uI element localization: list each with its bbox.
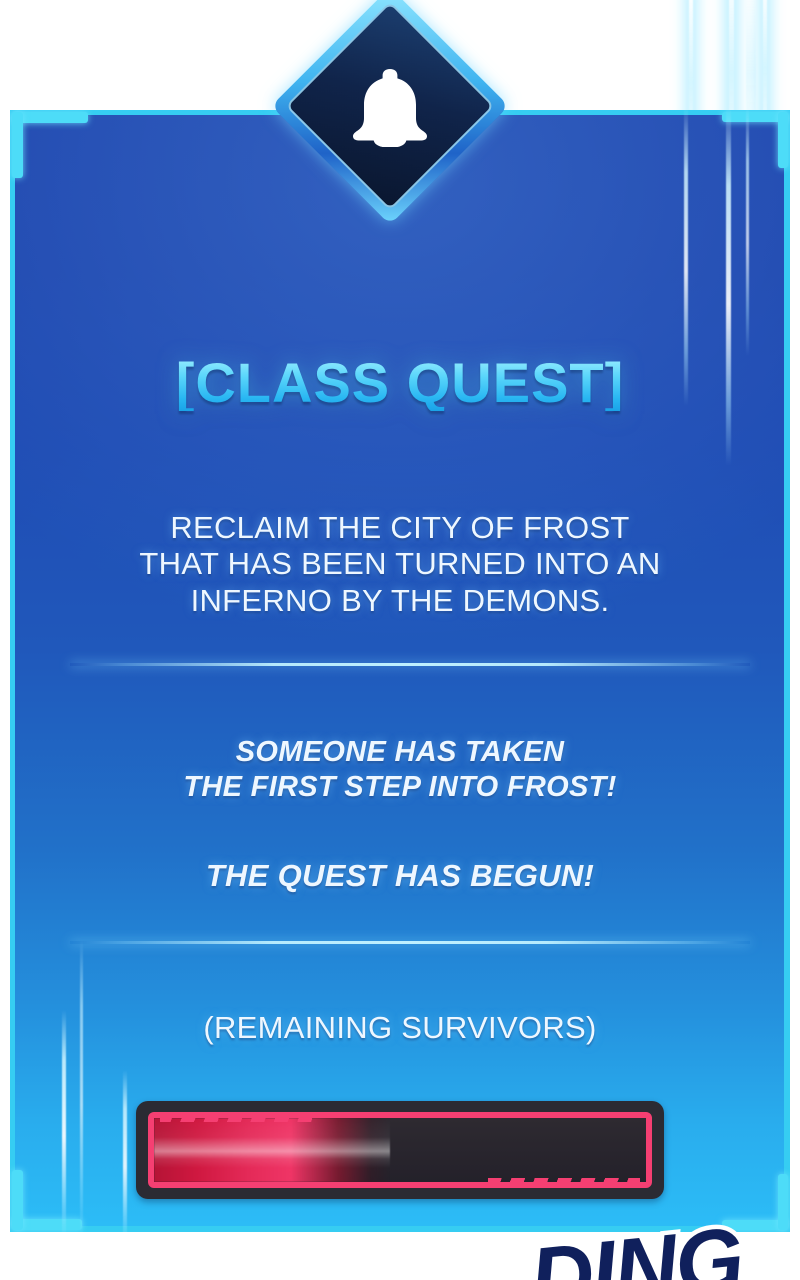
light-streak — [746, 110, 749, 356]
gauge-hatch-bottom-right — [488, 1178, 640, 1187]
quest-announcement-text: SOMEONE HAS TAKEN THE FIRST STEP INTO FR… — [10, 735, 790, 805]
light-streak — [80, 940, 83, 1232]
section-divider — [70, 663, 750, 666]
panel-border-left — [10, 110, 15, 1232]
quest-badge — [292, 8, 488, 204]
page-title: [CLASS QUEST] — [10, 355, 790, 411]
quest-begun-text: THE QUEST HAS BEGUN! — [10, 858, 790, 894]
section-divider — [70, 941, 750, 944]
light-streak — [123, 1070, 127, 1232]
gauge-label: (REMAINING SURVIVORS) — [10, 1010, 790, 1046]
gauge-fill — [154, 1118, 390, 1182]
gauge-inner-frame — [148, 1112, 652, 1188]
light-streak — [726, 110, 731, 466]
quest-panel: [CLASS QUEST] RECLAIM THE CITY OF FROST … — [10, 110, 790, 1232]
survivors-gauge — [136, 1101, 664, 1199]
panel-border-right — [784, 110, 790, 1232]
quest-objective-text: RECLAIM THE CITY OF FROST THAT HAS BEEN … — [10, 510, 790, 619]
quest-notification-scene: [CLASS QUEST] RECLAIM THE CITY OF FROST … — [0, 0, 800, 1280]
bell-icon — [292, 8, 488, 204]
gauge-hatch-top-left — [160, 1113, 312, 1122]
